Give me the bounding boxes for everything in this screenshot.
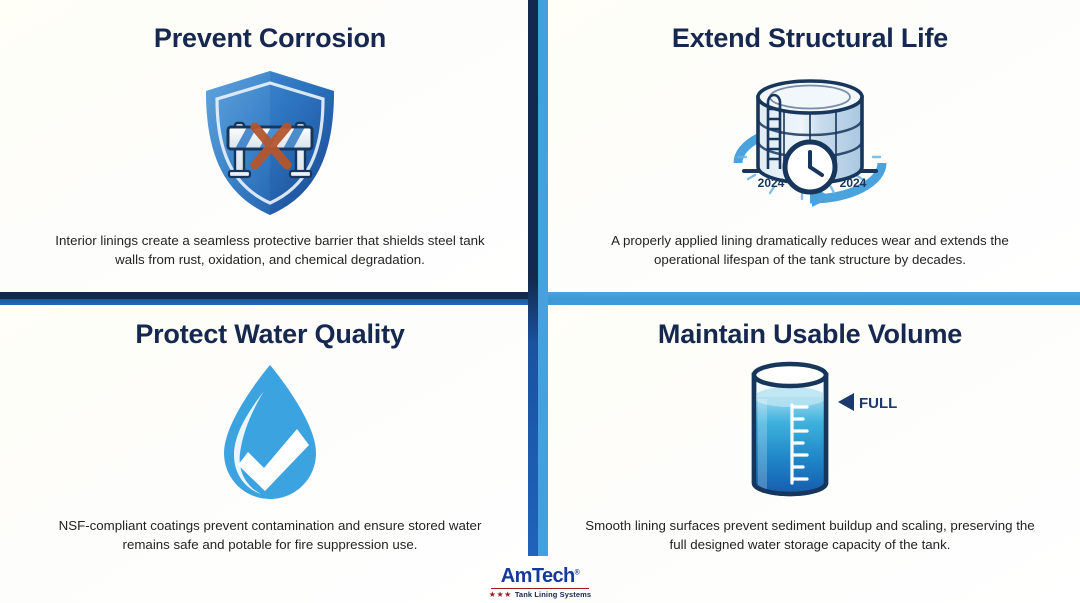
vertical-divider-dark-segment xyxy=(528,0,538,556)
card-title: Protect Water Quality xyxy=(135,320,404,350)
logo-tagline: Tank Lining Systems xyxy=(515,590,591,599)
horizontal-divider-left-segment xyxy=(0,292,538,305)
full-marker-arrow-icon xyxy=(838,393,854,411)
card-extend-structural-life: Extend Structural Life xyxy=(540,0,1080,292)
card-protect-water-quality: Protect Water Quality NSF-compliant coat… xyxy=(0,292,540,603)
logo-rule xyxy=(491,588,589,590)
card-title: Prevent Corrosion xyxy=(154,24,386,54)
card-title: Maintain Usable Volume xyxy=(658,320,962,350)
card-description: Interior linings create a seamless prote… xyxy=(40,232,500,270)
year-label-left: 2024 xyxy=(758,176,785,190)
logo-brand-name: AmTech xyxy=(501,565,575,587)
year-label-right: 2024 xyxy=(840,176,867,190)
shield-barrier-icon xyxy=(195,67,345,219)
vertical-divider-light-segment xyxy=(538,0,548,556)
card-icon-area xyxy=(20,350,520,518)
horizontal-divider-right-segment xyxy=(538,292,1080,305)
infographic-canvas: Prevent Corrosion xyxy=(0,0,1080,603)
tank-clock-cycle-icon: 2024 2024 xyxy=(712,67,908,219)
amtech-logo: AmTech® ★★★ Tank Lining Systems xyxy=(0,566,1080,599)
card-description: NSF-compliant coatings prevent contamina… xyxy=(40,517,500,555)
card-icon-area xyxy=(20,54,520,233)
water-droplet-check-icon xyxy=(214,357,326,509)
card-prevent-corrosion: Prevent Corrosion xyxy=(0,0,540,292)
full-marker-label: FULL xyxy=(859,395,897,412)
logo-stars-icon: ★★★ xyxy=(489,590,512,599)
card-icon-area: 2024 2024 xyxy=(560,54,1060,233)
logo-wordmark: AmTech® xyxy=(501,566,579,586)
card-description: A properly applied lining dramatically r… xyxy=(580,232,1040,270)
logo-tagline-row: ★★★ Tank Lining Systems xyxy=(489,590,591,599)
logo-trademark-symbol: ® xyxy=(575,569,580,576)
beaker-full-level-icon: FULL xyxy=(712,357,908,509)
vertical-divider xyxy=(528,0,548,556)
card-title: Extend Structural Life xyxy=(672,24,948,54)
card-icon-area: FULL xyxy=(560,350,1060,518)
card-description: Smooth lining surfaces prevent sediment … xyxy=(580,517,1040,555)
card-maintain-usable-volume: Maintain Usable Volume xyxy=(540,292,1080,603)
